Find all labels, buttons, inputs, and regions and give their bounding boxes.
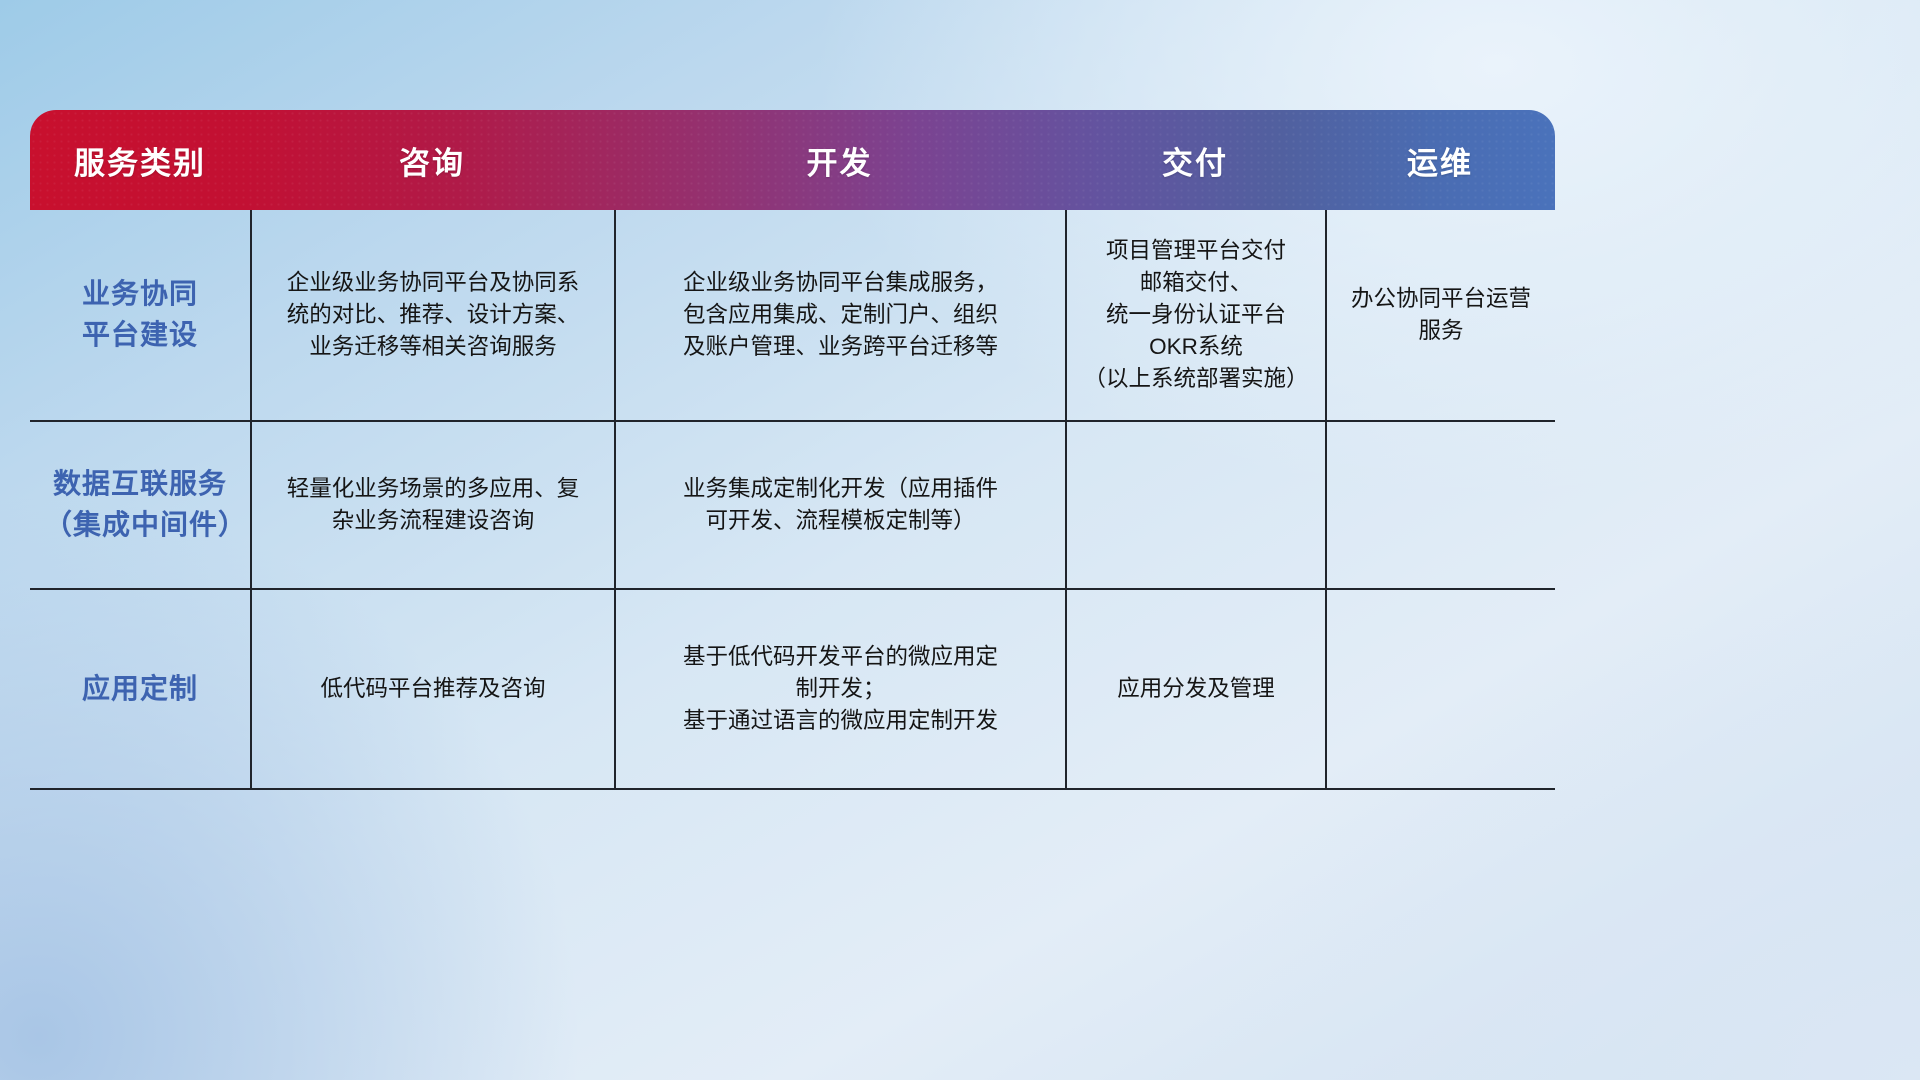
cell-operations — [1325, 590, 1555, 788]
cell-delivery: 项目管理平台交付 邮箱交付、 统一身份认证平台 OKR系统 （以上系统部署实施） — [1065, 210, 1325, 420]
row-category-label: 业务协同 平台建设 — [30, 210, 250, 420]
cell-operations: 办公协同平台运营服务 — [1325, 210, 1555, 420]
cell-consulting: 轻量化业务场景的多应用、复 杂业务流程建设咨询 — [250, 422, 614, 588]
cell-consulting: 企业级业务协同平台及协同系 统的对比、推荐、设计方案、 业务迁移等相关咨询服务 — [250, 210, 614, 420]
row-category-label: 应用定制 — [30, 590, 250, 788]
table-body: 业务协同 平台建设 企业级业务协同平台及协同系 统的对比、推荐、设计方案、 业务… — [30, 210, 1555, 790]
row-category-label: 数据互联服务 （集成中间件） — [30, 422, 250, 588]
column-header-delivery: 交付 — [1065, 138, 1325, 183]
slide-canvas: 服务类别 咨询 开发 交付 运维 业务协同 平台建设 企业级业务协同平台及协同系… — [0, 0, 1920, 1080]
table-row: 业务协同 平台建设 企业级业务协同平台及协同系 统的对比、推荐、设计方案、 业务… — [30, 210, 1555, 422]
cell-consulting: 低代码平台推荐及咨询 — [250, 590, 614, 788]
cell-delivery: 应用分发及管理 — [1065, 590, 1325, 788]
service-matrix-table: 服务类别 咨询 开发 交付 运维 业务协同 平台建设 企业级业务协同平台及协同系… — [30, 110, 1555, 790]
column-header-development: 开发 — [614, 138, 1065, 183]
table-row: 数据互联服务 （集成中间件） 轻量化业务场景的多应用、复 杂业务流程建设咨询 业… — [30, 422, 1555, 590]
column-header-category: 服务类别 — [30, 138, 250, 183]
table-row: 应用定制 低代码平台推荐及咨询 基于低代码开发平台的微应用定 制开发； 基于通过… — [30, 590, 1555, 790]
cell-development: 基于低代码开发平台的微应用定 制开发； 基于通过语言的微应用定制开发 — [614, 590, 1065, 788]
cell-development: 业务集成定制化开发（应用插件 可开发、流程模板定制等） — [614, 422, 1065, 588]
column-header-operations: 运维 — [1325, 138, 1555, 183]
cell-delivery — [1065, 422, 1325, 588]
cell-development: 企业级业务协同平台集成服务， 包含应用集成、定制门户、组织 及账户管理、业务跨平… — [614, 210, 1065, 420]
table-header-row: 服务类别 咨询 开发 交付 运维 — [30, 110, 1555, 210]
column-header-consulting: 咨询 — [250, 138, 614, 183]
cell-operations — [1325, 422, 1555, 588]
